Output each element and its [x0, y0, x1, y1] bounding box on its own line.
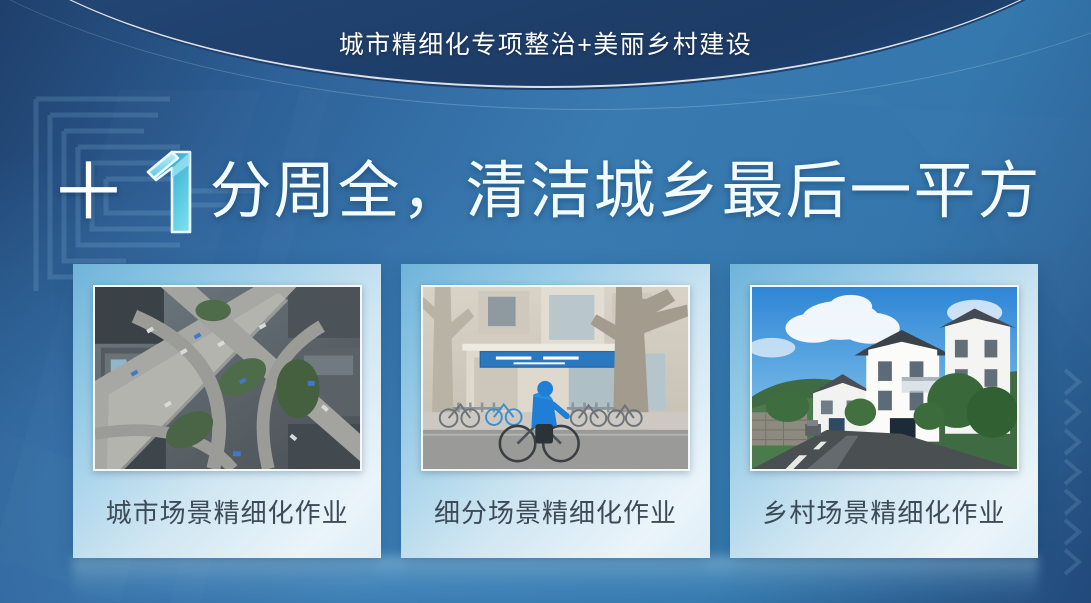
number-one-glyph — [132, 146, 206, 238]
card-caption: 细分场景精细化作业 — [401, 493, 709, 530]
slide-canvas: 城市精细化专项整治+美丽乡村建设 ＋ — [0, 0, 1091, 603]
headline: ＋ — [0, 146, 1091, 238]
plus-sign: ＋ — [49, 153, 127, 231]
number-one-3d — [132, 146, 206, 238]
chevron-decoration — [1031, 0, 1091, 603]
slide-title: 城市精细化专项整治+美丽乡村建设 — [0, 25, 1091, 61]
headline-text: 分周全，清洁城乡最后一平方 — [210, 161, 1042, 223]
cards-row: 城市场景精细化作业 — [73, 264, 1038, 558]
street-bicycle-parking-photo — [421, 285, 690, 471]
card-urban[interactable]: 城市场景精细化作业 — [73, 264, 381, 558]
card-rural[interactable]: 乡村场景精细化作业 — [730, 264, 1038, 558]
aerial-highway-interchange-photo — [93, 285, 362, 471]
card-caption: 乡村场景精细化作业 — [730, 493, 1038, 530]
card-caption: 城市场景精细化作业 — [73, 493, 381, 530]
card-detail-scene[interactable]: 细分场景精细化作业 — [401, 264, 709, 558]
cards-reflection-glow — [73, 556, 1038, 603]
rural-village-houses-photo — [750, 285, 1019, 471]
